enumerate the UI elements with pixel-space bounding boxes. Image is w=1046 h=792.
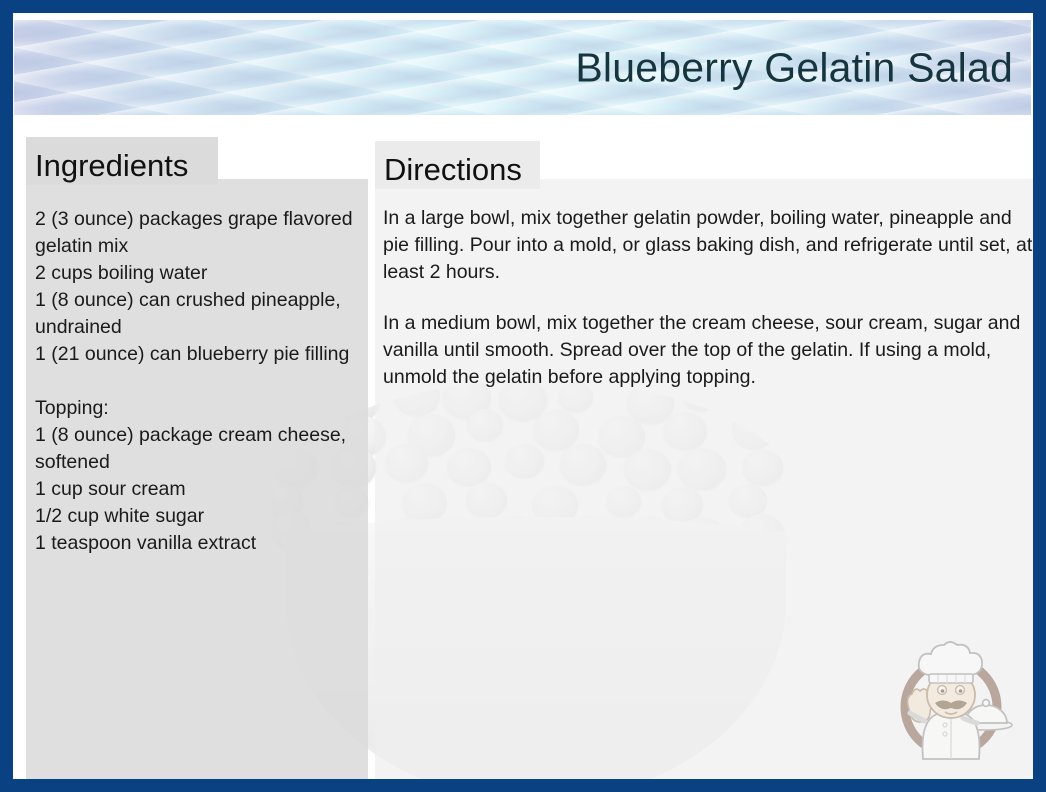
directions-heading: Directions xyxy=(384,152,522,188)
directions-tab: Directions xyxy=(375,141,540,189)
ingredients-tab: Ingredients xyxy=(26,137,218,185)
directions-steps: In a large bowl, mix together gelatin po… xyxy=(383,205,1033,391)
header-banner: Blueberry Gelatin Salad xyxy=(14,20,1031,115)
page-title: Blueberry Gelatin Salad xyxy=(575,44,1013,91)
direction-step: In a medium bowl, mix together the cream… xyxy=(383,310,1033,391)
recipe-card: Blueberry Gelatin Salad Ingredients 2 (3… xyxy=(0,0,1046,792)
direction-step: In a large bowl, mix together gelatin po… xyxy=(383,205,1033,286)
chef-with-cloche-logo xyxy=(885,633,1017,765)
ingredients-heading: Ingredients xyxy=(35,148,188,184)
ingredients-list: 2 (3 ounce) packages grape flavored gela… xyxy=(35,206,355,557)
